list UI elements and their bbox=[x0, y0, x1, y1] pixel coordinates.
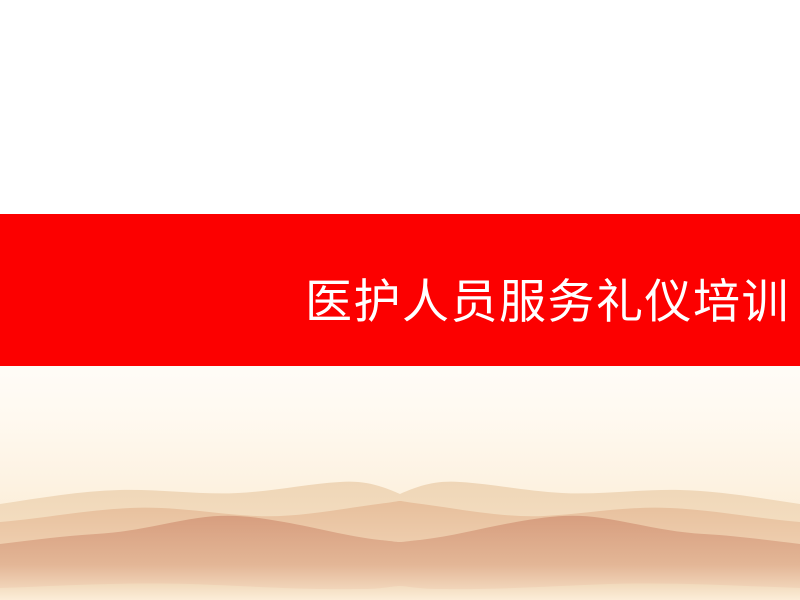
title-banner: 医护人员服务礼仪培训 bbox=[0, 214, 800, 366]
slide-bottom-area: 张梦 bbox=[0, 366, 800, 600]
mountain-silhouette-decoration bbox=[0, 470, 800, 600]
slide-top-white-area bbox=[0, 0, 800, 214]
title-slide: 医护人员服务礼仪培训 bbox=[0, 0, 800, 600]
page-title: 医护人员服务礼仪培训 bbox=[305, 278, 790, 327]
